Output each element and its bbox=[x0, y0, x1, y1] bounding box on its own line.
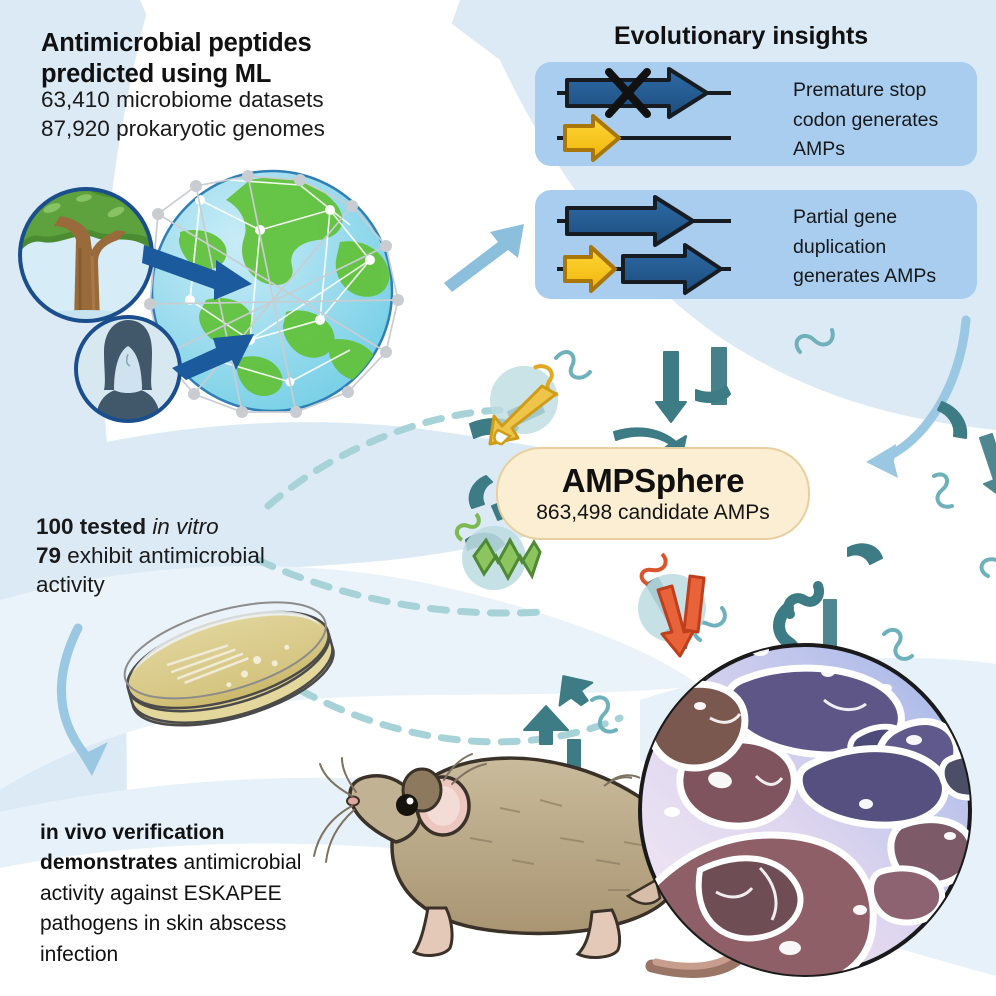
page-title: Antimicrobial peptides predicted using M… bbox=[41, 28, 371, 90]
invitro-line-2: 79 exhibit antimicrobial bbox=[36, 541, 366, 570]
invivo-line2-rest: antimicrobial bbox=[178, 851, 302, 874]
invitro-line-3: activity bbox=[36, 570, 366, 599]
invitro-italic: in vitro bbox=[152, 514, 218, 539]
invivo-verification: verification bbox=[107, 821, 225, 844]
title-line-1: Antimicrobial peptides bbox=[41, 28, 371, 59]
stat-prokaryotic-genomes: 87,920 prokaryotic genomes bbox=[41, 114, 381, 143]
panel1-line1: Premature stop bbox=[793, 76, 978, 106]
invivo-line-4: pathogens in skin abscess bbox=[40, 909, 380, 939]
invivo-line-1: in vivo verification bbox=[40, 818, 380, 848]
invivo-italic: in vivo bbox=[40, 821, 107, 844]
panel1-line2: codon generates bbox=[793, 106, 978, 136]
invitro-count: 100 tested bbox=[36, 514, 152, 539]
ampsphere-subtitle: 863,498 candidate AMPs bbox=[536, 502, 770, 523]
panel1-line3: AMPs bbox=[793, 135, 978, 165]
graphical-abstract: Antimicrobial peptides predicted using M… bbox=[0, 0, 996, 996]
panel-premature-stop-text: Premature stop codon generates AMPs bbox=[793, 76, 978, 165]
ampsphere-label: AMPSphere 863,498 candidate AMPs bbox=[496, 447, 810, 540]
panel-partial-duplication-text: Partial gene duplication generates AMPs bbox=[793, 203, 983, 292]
invivo-text: in vivo verification demonstrates antimi… bbox=[40, 818, 380, 970]
panel2-line3: generates AMPs bbox=[793, 262, 983, 292]
ampsphere-title: AMPSphere bbox=[562, 464, 745, 497]
dataset-stats: 63,410 microbiome datasets 87,920 prokar… bbox=[41, 85, 381, 143]
panel2-line2: duplication bbox=[793, 233, 983, 263]
invivo-demonstrates: demonstrates bbox=[40, 851, 178, 874]
invivo-line-3: activity against ESKAPEE bbox=[40, 879, 380, 909]
invitro-active-count: 79 bbox=[36, 543, 61, 568]
panel2-line1: Partial gene bbox=[793, 203, 983, 233]
invitro-text: 100 tested in vitro 79 exhibit antimicro… bbox=[36, 512, 366, 599]
invivo-line-5: infection bbox=[40, 940, 380, 970]
evolutionary-insights-title: Evolutionary insights bbox=[614, 22, 868, 51]
invivo-line-2: demonstrates antimicrobial bbox=[40, 848, 380, 878]
invitro-line2-rest: exhibit antimicrobial bbox=[61, 543, 265, 568]
stat-microbiome-datasets: 63,410 microbiome datasets bbox=[41, 85, 381, 114]
invitro-line-1: 100 tested in vitro bbox=[36, 512, 366, 541]
